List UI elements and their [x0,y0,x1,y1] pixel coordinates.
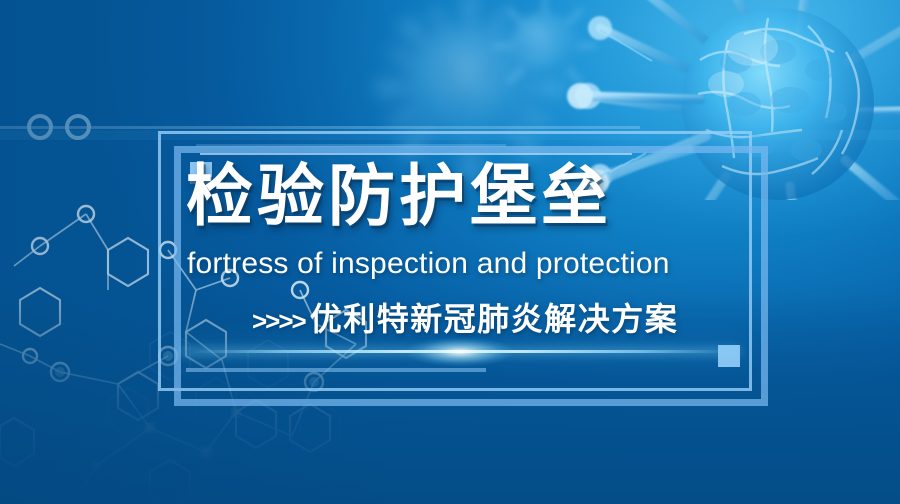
frame-hairline-top [200,153,632,155]
page-subtitle-english: fortress of inspection and protection [187,247,670,282]
frame-hairline-bottom [186,368,486,372]
marketing-banner: 检验防护堡垒 fortress of inspection and protec… [0,0,900,504]
frame-square-accent-bottom-right [718,345,740,367]
chevron-right-icon: >>>> [252,306,305,337]
solution-subtitle: 优利特新冠肺炎解决方案 [310,294,679,340]
beam-lens-flare [408,338,512,366]
page-title: 检验防护堡垒 [186,163,612,230]
solution-subtitle-row: >>>> 优利特新冠肺炎解决方案 [252,294,678,340]
